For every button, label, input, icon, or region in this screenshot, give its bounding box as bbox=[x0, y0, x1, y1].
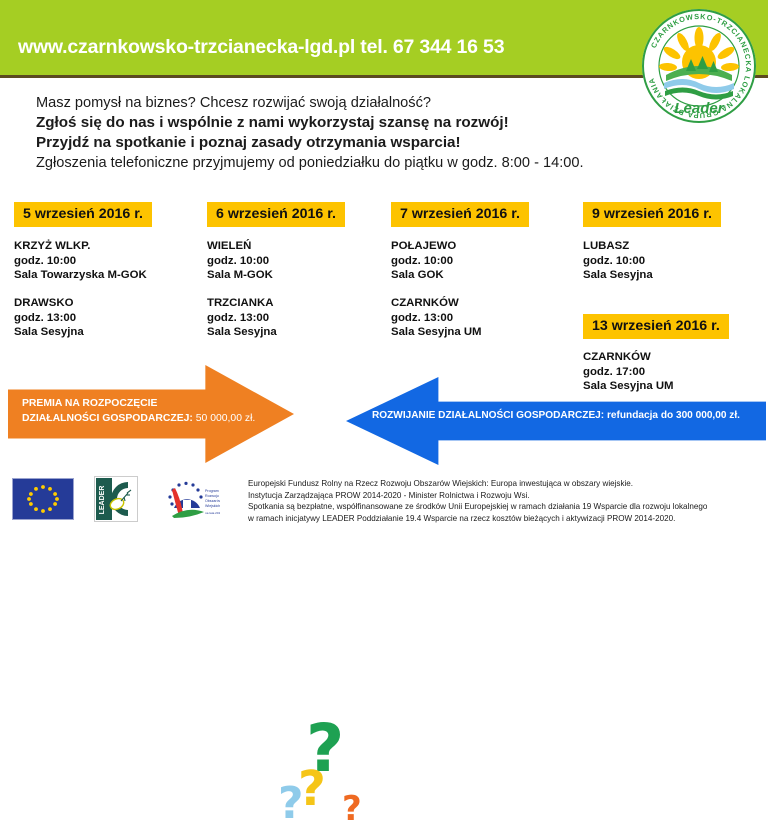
event-venue: Sala Sesyjna bbox=[207, 325, 392, 340]
rozwijanie-arrow-label: ROZWIJANIE DZIAŁALNOŚCI GOSPODARCZEJ: re… bbox=[372, 410, 764, 421]
intro-line-1: Masz pomysł na biznes? Chcesz rozwijać s… bbox=[36, 93, 736, 113]
premia-arrow-label: PREMIA NA ROZPOCZĘCIE DZIAŁALNOŚCI GOSPO… bbox=[22, 396, 277, 426]
question-mark-orange-icon: ? bbox=[342, 792, 362, 826]
event-venue: Sala Sesyjna UM bbox=[391, 325, 576, 340]
event-item: LUBASZ godz. 10:00 Sala Sesyjna bbox=[583, 239, 763, 283]
event-list: POŁAJEWO godz. 10:00 Sala GOK CZARNKÓW g… bbox=[391, 239, 576, 340]
event-venue: Sala GOK bbox=[391, 268, 576, 283]
event-list: LUBASZ godz. 10:00 Sala Sesyjna bbox=[583, 239, 763, 283]
event-venue: Sala Sesyjna bbox=[14, 325, 204, 340]
event-time: godz. 13:00 bbox=[14, 311, 204, 326]
svg-text:na lata 2014-2020: na lata 2014-2020 bbox=[205, 511, 220, 515]
svg-text:Wiejskich: Wiejskich bbox=[205, 504, 220, 508]
arrows-section: PREMIA NA ROZPOCZĘCIE DZIAŁALNOŚCI GOSPO… bbox=[0, 360, 768, 470]
svg-text:Rozwoju: Rozwoju bbox=[205, 494, 219, 498]
event-list: WIELEŃ godz. 10:00 Sala M-GOK TRZCIANKA … bbox=[207, 239, 392, 340]
event-time: godz. 10:00 bbox=[391, 254, 576, 269]
event-place: POŁAJEWO bbox=[391, 239, 576, 254]
event-item: KRZYŻ WLKP. godz. 10:00 Sala Towarzyska … bbox=[14, 239, 204, 283]
event-list: KRZYŻ WLKP. godz. 10:00 Sala Towarzyska … bbox=[14, 239, 204, 340]
event-place: KRZYŻ WLKP. bbox=[14, 239, 204, 254]
prow-logo-icon: Program Rozwoju Obszarów Wiejskich na la… bbox=[158, 476, 220, 522]
premia-amount: 50 000,00 zł. bbox=[193, 413, 255, 424]
date-chip: 7 wrzesień 2016 r. bbox=[391, 202, 529, 227]
leader-logo-icon: LEADER bbox=[94, 476, 138, 522]
footer-line-3: Spotkania są bezpłatne, współfinansowane… bbox=[248, 501, 763, 513]
event-time: godz. 10:00 bbox=[583, 254, 763, 269]
date-chip: 9 wrzesień 2016 r. bbox=[583, 202, 721, 227]
question-mark-light-blue-icon: ? bbox=[278, 782, 304, 826]
event-place: TRZCIANKA bbox=[207, 296, 392, 311]
footer: LEADER bbox=[0, 468, 768, 543]
event-place: CZARNKÓW bbox=[391, 296, 576, 311]
event-time: godz. 13:00 bbox=[207, 311, 392, 326]
svg-text:LEADER: LEADER bbox=[99, 486, 106, 515]
schedule-grid: 5 wrzesień 2016 r. KRZYŻ WLKP. godz. 10:… bbox=[0, 202, 768, 377]
event-venue: Sala Sesyjna bbox=[583, 268, 763, 283]
intro-block: Masz pomysł na biznes? Chcesz rozwijać s… bbox=[36, 93, 736, 173]
event-time: godz. 13:00 bbox=[391, 311, 576, 326]
footer-logo-row: LEADER bbox=[12, 476, 220, 522]
event-item: DRAWSKO godz. 13:00 Sala Sesyjna bbox=[14, 296, 204, 340]
event-place: LUBASZ bbox=[583, 239, 763, 254]
event-item: WIELEŃ godz. 10:00 Sala M-GOK bbox=[207, 239, 392, 283]
event-time: godz. 10:00 bbox=[207, 254, 392, 269]
schedule-column-2: 6 wrzesień 2016 r. WIELEŃ godz. 10:00 Sa… bbox=[207, 202, 392, 353]
footer-text-block: Europejski Fundusz Rolny na Rzecz Rozwoj… bbox=[248, 478, 763, 524]
footer-line-2: Instytucja Zarządzająca PROW 2014-2020 -… bbox=[248, 490, 763, 502]
intro-line-2: Zgłoś się do nas i wspólnie z nami wykor… bbox=[36, 113, 736, 133]
rozwijanie-arrow-shape bbox=[346, 377, 766, 465]
schedule-column-4: 9 wrzesień 2016 r. LUBASZ godz. 10:00 Sa… bbox=[583, 202, 763, 296]
eu-flag-logo-icon bbox=[12, 478, 74, 520]
event-item: CZARNKÓW godz. 13:00 Sala Sesyjna UM bbox=[391, 296, 576, 340]
date-chip: 13 wrzesień 2016 r. bbox=[583, 314, 729, 339]
schedule-column-3: 7 wrzesień 2016 r. POŁAJEWO godz. 10:00 … bbox=[391, 202, 576, 353]
svg-text:Obszarów: Obszarów bbox=[205, 499, 220, 503]
question-marks-cluster: ? ? ? ? bbox=[288, 720, 396, 830]
event-venue: Sala Towarzyska M-GOK bbox=[14, 268, 204, 283]
header-url-phone: www.czarnkowsko-trzcianecka-lgd.pl tel. … bbox=[18, 36, 504, 59]
event-item: TRZCIANKA godz. 13:00 Sala Sesyjna bbox=[207, 296, 392, 340]
footer-line-1: Europejski Fundusz Rolny na Rzecz Rozwoj… bbox=[248, 478, 763, 490]
footer-line-4: w ramach inicjatywy LEADER Poddziałanie … bbox=[248, 513, 763, 525]
event-venue: Sala M-GOK bbox=[207, 268, 392, 283]
schedule-column-1: 5 wrzesień 2016 r. KRZYŻ WLKP. godz. 10:… bbox=[14, 202, 204, 353]
date-chip: 6 wrzesień 2016 r. bbox=[207, 202, 345, 227]
event-place: WIELEŃ bbox=[207, 239, 392, 254]
intro-line-4: Zgłoszenia telefoniczne przyjmujemy od p… bbox=[36, 153, 736, 173]
event-time: godz. 10:00 bbox=[14, 254, 204, 269]
event-place: DRAWSKO bbox=[14, 296, 204, 311]
date-chip: 5 wrzesień 2016 r. bbox=[14, 202, 152, 227]
premia-line-1: PREMIA NA ROZPOCZĘCIE bbox=[22, 398, 157, 409]
premia-line-2-label: DZIAŁALNOŚCI GOSPODARCZEJ: bbox=[22, 413, 193, 424]
svg-text:Program: Program bbox=[205, 489, 219, 493]
intro-line-3: Przyjdź na spotkanie i poznaj zasady otr… bbox=[36, 133, 736, 153]
event-item: POŁAJEWO godz. 10:00 Sala GOK bbox=[391, 239, 576, 283]
